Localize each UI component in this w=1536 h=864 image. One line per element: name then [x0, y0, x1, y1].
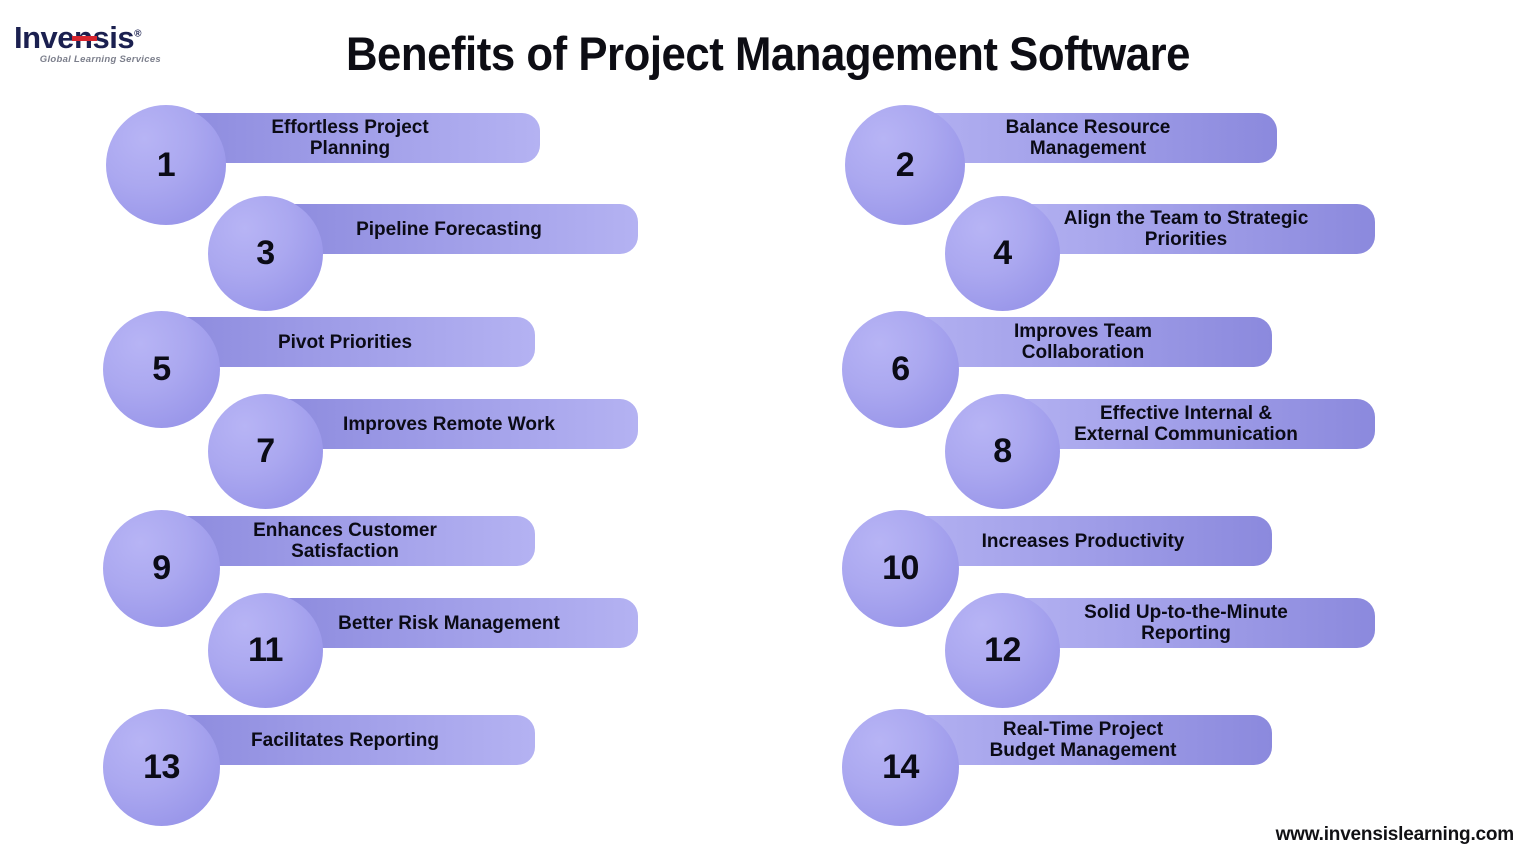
benefit-number-circle: 6 — [842, 311, 959, 428]
benefit-number-circle: 14 — [842, 709, 959, 826]
benefit-number: 13 — [143, 748, 180, 787]
benefit-number: 10 — [882, 549, 919, 588]
footer-website: www.invensislearning.com — [1276, 824, 1514, 846]
benefit-number: 12 — [984, 631, 1021, 670]
benefit-label: Solid Up-to-the-Minute Reporting — [1074, 602, 1298, 644]
benefit-number: 7 — [256, 432, 274, 471]
benefit-number-circle: 3 — [208, 196, 323, 311]
benefit-label: Effective Internal & External Communicat… — [1064, 403, 1308, 445]
benefit-number-circle: 11 — [208, 593, 323, 708]
benefit-number: 9 — [152, 549, 170, 588]
benefit-number: 11 — [248, 631, 283, 670]
benefit-number-circle: 9 — [103, 510, 220, 627]
benefit-label: Effortless Project Planning — [261, 117, 438, 159]
benefit-label: Improves Remote Work — [333, 414, 565, 435]
benefit-label: Align the Team to Strategic Priorities — [1054, 208, 1319, 250]
benefit-label: Facilitates Reporting — [241, 730, 449, 751]
benefit-label: Better Risk Management — [328, 613, 570, 634]
infographic-canvas: Invensis® Global Learning Services Benef… — [0, 0, 1536, 864]
benefit-number: 2 — [896, 146, 914, 185]
benefit-number: 3 — [256, 234, 274, 273]
benefit-label: Increases Productivity — [972, 531, 1195, 552]
benefit-number: 4 — [993, 234, 1011, 273]
benefit-label: Pivot Priorities — [268, 332, 422, 353]
benefit-number-circle: 4 — [945, 196, 1060, 311]
benefit-number-circle: 8 — [945, 394, 1060, 509]
benefit-number-circle: 2 — [845, 105, 965, 225]
benefit-label: Balance Resource Management — [996, 117, 1181, 159]
benefit-number: 1 — [157, 146, 175, 185]
benefit-number-circle: 1 — [106, 105, 226, 225]
benefit-number: 14 — [882, 748, 919, 787]
benefit-number: 6 — [891, 350, 909, 389]
benefit-label: Improves Team Collaboration — [1004, 321, 1162, 363]
benefit-number-circle: 10 — [842, 510, 959, 627]
benefit-label: Enhances Customer Satisfaction — [243, 520, 447, 562]
benefit-number-circle: 13 — [103, 709, 220, 826]
page-title: Benefits of Project Management Software — [54, 26, 1482, 81]
benefit-number-circle: 5 — [103, 311, 220, 428]
benefit-number-circle: 7 — [208, 394, 323, 509]
benefit-label: Pipeline Forecasting — [346, 219, 552, 240]
benefit-label: Real-Time Project Budget Management — [980, 719, 1187, 761]
benefit-number: 8 — [993, 432, 1011, 471]
benefit-number: 5 — [152, 350, 170, 389]
benefit-number-circle: 12 — [945, 593, 1060, 708]
